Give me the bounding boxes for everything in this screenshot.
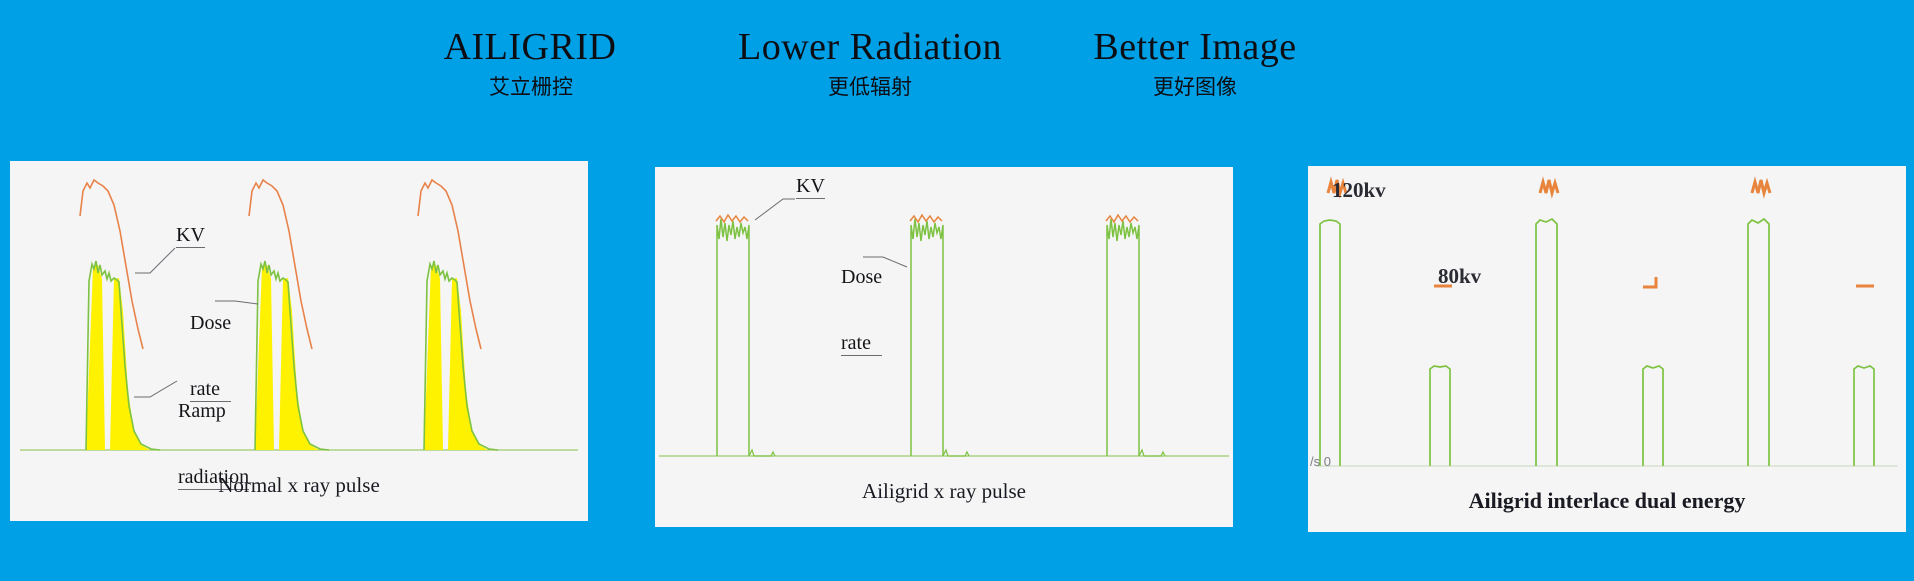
ramp-radiation-fill (448, 278, 488, 450)
panel-caption: Ailigrid interlace dual energy (1308, 488, 1906, 514)
pulse-group-1 (716, 215, 775, 456)
kv-trace (249, 180, 312, 349)
legend-80kv: 80kv (1438, 264, 1481, 289)
leader-line-ramp-radiation (134, 381, 177, 397)
kv-trace (418, 180, 481, 349)
ramp-radiation-fill (279, 278, 319, 450)
header-title-en: AILIGRID (370, 24, 690, 70)
panel-caption: Normal x ray pulse (10, 473, 588, 498)
leader-line-kv (135, 248, 175, 273)
header-block-ailigrid: AILIGRID 艾立栅控 (370, 24, 690, 104)
pulse-120kv (1320, 220, 1340, 466)
header-title-en: Better Image (1035, 24, 1355, 70)
chart-ailigrid-xray-pulse (655, 167, 1233, 472)
annotation-dose-rate: Dose rate (841, 222, 882, 401)
marker-80kv-icon (1643, 277, 1656, 287)
header-title-cn: 更好图像 (1035, 70, 1355, 104)
annotation-dose-rate-line2: rate (841, 332, 882, 356)
pulse-group-2 (249, 180, 329, 450)
marker-120kv-icon (1540, 180, 1558, 193)
pulse-80kv (1854, 366, 1874, 466)
pulse-120kv (1748, 219, 1769, 466)
pulse-group-3 (418, 180, 498, 450)
header-block-better-image: Better Image 更好图像 (1035, 24, 1355, 104)
baseline-blip (1139, 450, 1165, 456)
axis-tag: /s 0 (1310, 454, 1331, 469)
dose-rate-trace (1107, 219, 1139, 456)
dual-energy-svg (1308, 166, 1906, 484)
normal-pulse-svg (10, 161, 588, 466)
pulse-group-3 (1106, 215, 1165, 456)
header-title-cn: 艾立栅控 (370, 70, 690, 104)
pulse-120kv (1536, 219, 1557, 466)
pulse-group-2 (910, 215, 969, 456)
panel-caption: Ailigrid x ray pulse (655, 479, 1233, 504)
baseline-blip (749, 450, 775, 456)
annotation-dose-rate-line1: Dose (841, 266, 882, 288)
panel-normal-xray-pulse: KV Dose rate Ramp radiation Normal x ray… (10, 161, 588, 521)
kv-trace (80, 180, 143, 349)
leader-line-kv (755, 199, 795, 220)
header-title-cn: 更低辐射 (710, 70, 1030, 104)
marker-120kv-icon (1752, 180, 1770, 193)
chart-interlace-dual-energy (1308, 166, 1906, 484)
header-block-lower-radiation: Lower Radiation 更低辐射 (710, 24, 1030, 104)
header-banner: AILIGRID 艾立栅控 Lower Radiation 更低辐射 Bette… (0, 24, 1914, 124)
ailigrid-pulse-svg (655, 167, 1233, 472)
chart-normal-xray-pulse (10, 161, 588, 466)
pulse-80kv (1643, 366, 1663, 466)
pulse-group-1 (80, 180, 160, 450)
annotation-ramp-radiation-line1: Ramp (178, 400, 249, 422)
ramp-radiation-fill (110, 278, 150, 450)
header-title-en: Lower Radiation (710, 24, 1030, 70)
annotation-dose-rate-line1: Dose (190, 312, 231, 334)
annotation-kv: KV (796, 175, 825, 199)
dose-rate-trace (911, 219, 943, 456)
baseline-blip (943, 450, 969, 456)
pulse-80kv (1430, 366, 1450, 466)
panel-ailigrid-xray-pulse: KV Dose rate Ailigrid x ray pulse (655, 167, 1233, 527)
legend-120kv: 120kv (1332, 178, 1386, 203)
annotation-kv: KV (176, 224, 205, 248)
dose-rate-trace (717, 219, 749, 456)
panel-ailigrid-interlace-dual-energy: 120kv 80kv /s 0 Ailigrid interlace dual … (1308, 166, 1906, 532)
